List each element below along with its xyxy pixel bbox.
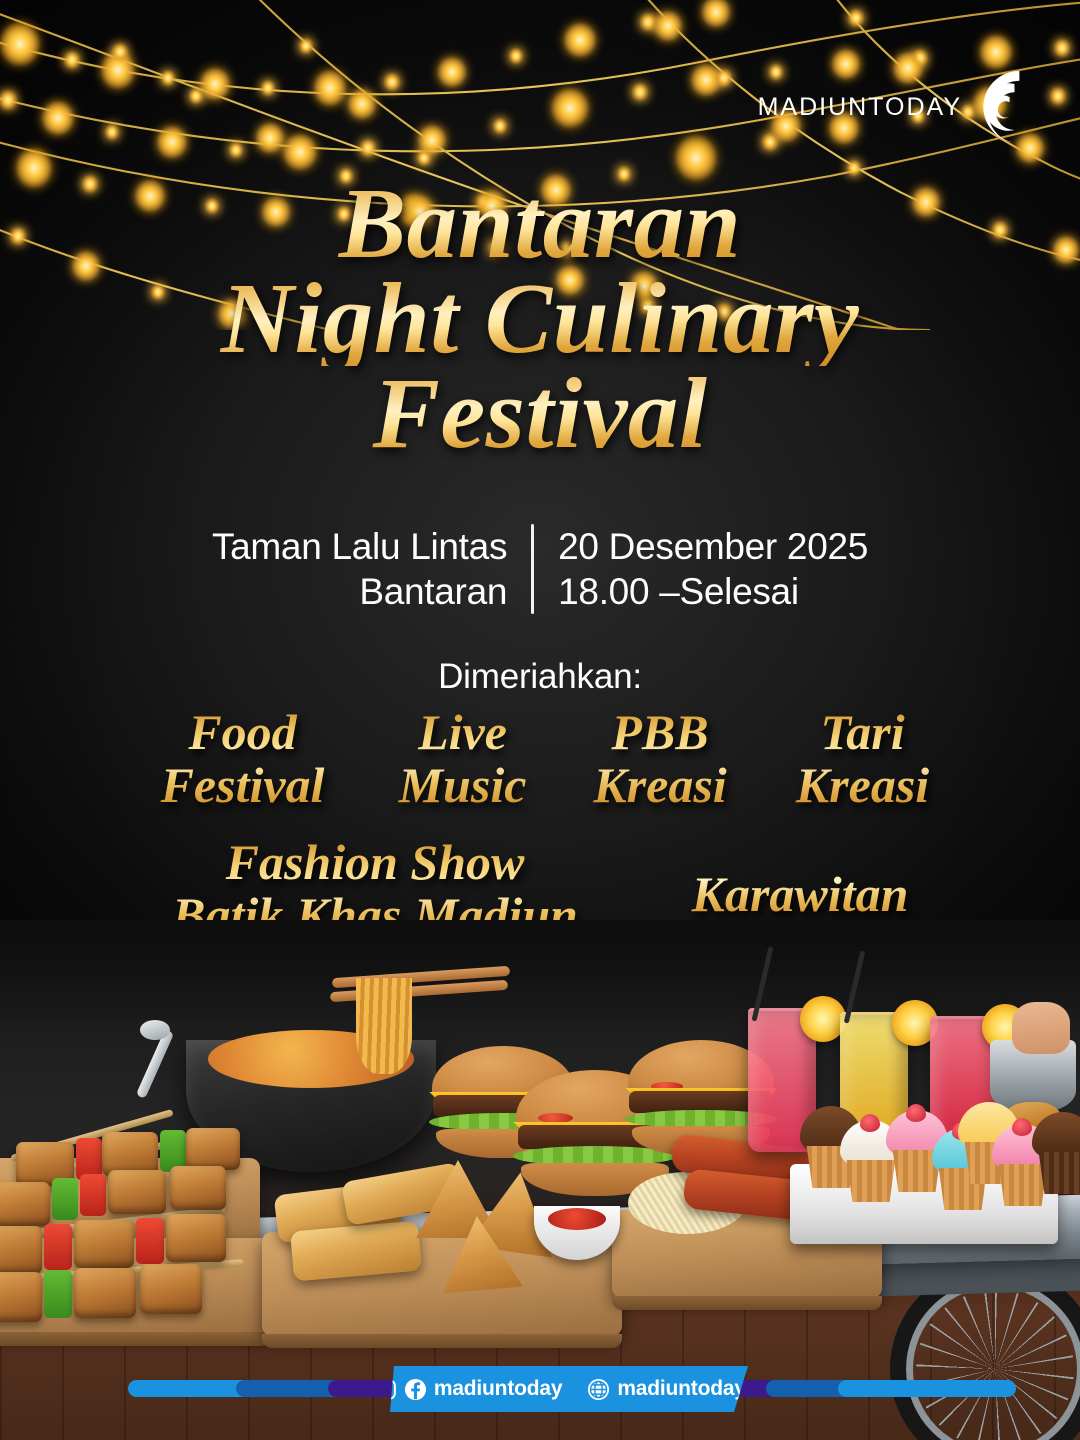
cupcake-berry	[860, 1114, 880, 1132]
burger-tomato	[538, 1113, 573, 1123]
poster-title: Bantaran Night Culinary Festival	[0, 176, 1080, 461]
satay-pepper-red-3	[44, 1224, 72, 1270]
satay-meat-10	[0, 1272, 42, 1322]
brand-logo-text: MADIUNTODAY	[758, 93, 962, 122]
cupcake-berry	[1012, 1118, 1032, 1136]
globe-icon[interactable]	[587, 1378, 610, 1401]
poster-canvas: MADIUNTODAY Bantaran Night Culinary Fest…	[0, 0, 1080, 1440]
event-date: 20 Desember 2025	[558, 524, 868, 569]
satay-pepper-green-2	[52, 1178, 78, 1220]
facebook-icon[interactable]	[404, 1378, 427, 1401]
cupcake-chocolate-2	[1030, 1112, 1080, 1194]
title-line-1: Bantaran	[0, 176, 1080, 271]
lineup-item-pbb-kreasi: PBB Kreasi	[558, 706, 763, 812]
cupcake-wrapper	[1034, 1152, 1080, 1194]
satay-pepper-green-3	[44, 1270, 72, 1318]
food-photo-section	[0, 920, 1080, 1440]
lineup-item-tari-kreasi: Tari Kreasi	[763, 706, 963, 812]
satay-meat-6	[170, 1166, 226, 1210]
satay-meat-8	[74, 1220, 134, 1268]
satay-meat-3	[186, 1128, 240, 1170]
serving-spoon-head	[140, 1020, 170, 1040]
satay-meat-4	[0, 1182, 50, 1226]
sauce-ketchup	[548, 1208, 606, 1230]
lifted-noodles	[356, 978, 412, 1074]
cupcake-berry	[906, 1104, 926, 1122]
venue-line-2: Bantaran	[212, 569, 507, 614]
satay-meat-11	[74, 1268, 136, 1318]
lineup-item-food-festival: Food Festival	[118, 706, 368, 812]
satay-meat-5	[108, 1170, 166, 1214]
lineup-row-1: Food Festival Live Music PBB Kreasi Tari…	[0, 706, 1080, 812]
footer-social-bar: madiuntoday madiuntoday.id	[0, 1366, 1080, 1412]
event-info-row: Taman Lalu Lintas Bantaran 20 Desember 2…	[0, 524, 1080, 614]
event-time: 18.00 –Selesai	[558, 569, 868, 614]
swoosh-arc-icon	[962, 66, 1044, 148]
brand-logo: MADIUNTODAY	[758, 66, 1044, 148]
chef-hand	[1012, 1002, 1070, 1054]
satay-meat-9	[166, 1214, 226, 1262]
social-handle-text: madiuntoday	[434, 1377, 562, 1401]
title-line-3: Festival	[0, 366, 1080, 461]
venue-block: Taman Lalu Lintas Bantaran	[212, 524, 531, 614]
lineup-item-karawitan: Karawitan	[635, 836, 965, 921]
lineup-item-live-music: Live Music	[368, 706, 558, 812]
footer-segment-right-light	[838, 1380, 1016, 1397]
footer-badge: madiuntoday madiuntoday.id	[390, 1366, 752, 1412]
satay-pepper-red-4	[136, 1218, 164, 1264]
satay-meat-7	[0, 1226, 42, 1274]
satay-meat-12	[140, 1264, 202, 1314]
lineup-label: Dimeriahkan:	[0, 657, 1080, 697]
datetime-block: 20 Desember 2025 18.00 –Selesai	[534, 524, 868, 614]
satay-pepper-red-2	[80, 1174, 106, 1216]
title-line-2: Night Culinary	[0, 271, 1080, 366]
venue-line-1: Taman Lalu Lintas	[212, 524, 507, 569]
social-handle-group[interactable]: madiuntoday	[374, 1377, 562, 1401]
